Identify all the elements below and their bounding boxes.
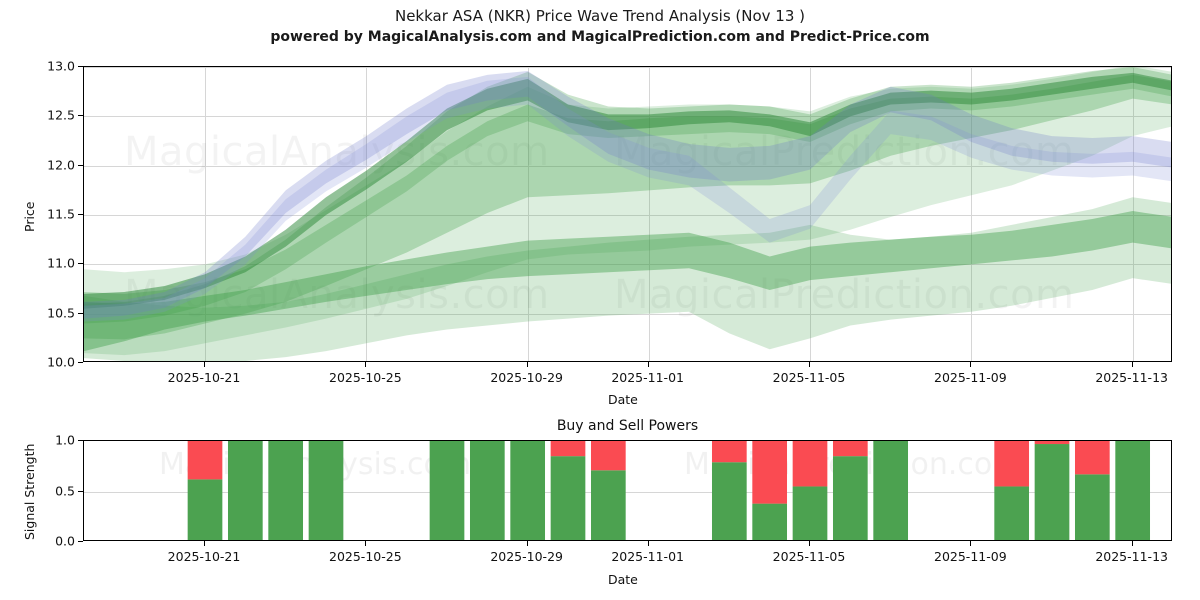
x-axis-tick-mark	[365, 541, 366, 546]
sell-power-bar	[752, 441, 787, 504]
buy-power-bar	[470, 441, 505, 541]
buy-power-bar	[228, 441, 263, 541]
x-axis-tick-label: 2025-10-21	[154, 370, 254, 385]
x-axis-tick-label: 2025-11-13	[1082, 549, 1182, 564]
x-axis-tick-label: 2025-11-13	[1082, 370, 1182, 385]
buy-power-bar	[752, 504, 787, 541]
y-axis-tick-label: 10.0	[29, 355, 75, 370]
sell-power-bar	[1035, 441, 1070, 444]
y-axis-tick-mark	[78, 165, 83, 166]
x-axis-tick-label: 2025-10-25	[315, 370, 415, 385]
y-axis-tick-mark	[78, 214, 83, 215]
y-axis-tick-mark	[78, 263, 83, 264]
buy-sell-title: Buy and Sell Powers	[83, 418, 1172, 434]
sell-power-bar	[591, 441, 626, 470]
sell-power-bar	[551, 441, 586, 456]
y-axis-tick-mark	[78, 491, 83, 492]
x-axis-tick-mark	[970, 541, 971, 546]
y-axis-tick-label: 11.0	[29, 256, 75, 271]
buy-power-bar	[510, 441, 545, 541]
y-axis-tick-mark	[78, 115, 83, 116]
buy-power-bar	[793, 486, 828, 541]
wave-bands	[84, 67, 1172, 362]
buy-power-bar	[873, 441, 908, 541]
x-axis-tick-mark	[1132, 362, 1133, 367]
buy-power-bar	[591, 470, 626, 541]
chart-title-block: Nekkar ASA (NKR) Price Wave Trend Analys…	[0, 6, 1200, 47]
y-axis-tick-mark	[78, 313, 83, 314]
buy-power-bar	[994, 486, 1029, 541]
y-axis-tick-label: 11.5	[29, 207, 75, 222]
x-axis-tick-label: 2025-11-09	[920, 549, 1020, 564]
y-axis-tick-label: 13.0	[29, 59, 75, 74]
x-axis-tick-mark	[204, 541, 205, 546]
x-axis-tick-label: 2025-11-01	[598, 370, 698, 385]
signal-bars	[84, 441, 1172, 541]
x-axis-tick-label: 2025-11-05	[759, 370, 859, 385]
buy-power-bar	[833, 456, 868, 541]
buy-power-bar	[188, 479, 223, 541]
x-axis-tick-mark	[809, 362, 810, 367]
y-axis-tick-mark	[78, 362, 83, 363]
buy-power-bar	[712, 462, 747, 541]
x-axis-tick-mark	[970, 362, 971, 367]
y-axis-tick-label: 1.0	[29, 433, 75, 448]
x-axis-tick-mark	[1132, 541, 1133, 546]
x-axis-tick-mark	[527, 362, 528, 367]
x-axis-tick-mark	[648, 541, 649, 546]
bottom-xaxis-label: Date	[608, 572, 638, 587]
x-axis-tick-label: 2025-11-09	[920, 370, 1020, 385]
buy-power-bar	[551, 456, 586, 541]
x-axis-tick-mark	[527, 541, 528, 546]
x-axis-tick-mark	[809, 541, 810, 546]
y-axis-tick-label: 10.5	[29, 305, 75, 320]
buy-power-bar	[1035, 444, 1070, 541]
y-axis-tick-label: 0.0	[29, 534, 75, 549]
x-axis-tick-label: 2025-10-21	[154, 549, 254, 564]
sell-power-bar	[994, 441, 1029, 486]
x-axis-tick-label: 2025-11-01	[598, 549, 698, 564]
x-axis-tick-label: 2025-10-25	[315, 549, 415, 564]
buy-power-bar	[430, 441, 465, 541]
buy-power-bar	[268, 441, 303, 541]
y-axis-tick-label: 12.0	[29, 157, 75, 172]
x-axis-tick-mark	[365, 362, 366, 367]
page-subtitle: powered by MagicalAnalysis.com and Magic…	[0, 27, 1200, 47]
sell-power-bar	[833, 441, 868, 456]
sell-power-bar	[712, 441, 747, 462]
y-axis-tick-mark	[78, 541, 83, 542]
buy-power-bar	[1115, 441, 1150, 541]
price-wave-chart-panel: MagicalAnalysis.com MagicalPrediction.co…	[83, 66, 1172, 362]
y-axis-tick-mark	[78, 66, 83, 67]
x-axis-tick-mark	[204, 362, 205, 367]
x-axis-tick-label: 2025-10-29	[477, 549, 577, 564]
y-axis-tick-label: 12.5	[29, 108, 75, 123]
buy-power-bar	[309, 441, 344, 541]
buy-sell-chart-panel: MagicalAnalysis.com MagicalPrediction.co…	[83, 440, 1172, 541]
x-axis-tick-label: 2025-10-29	[477, 370, 577, 385]
sell-power-bar	[793, 441, 828, 486]
sell-power-bar	[188, 441, 223, 479]
buy-power-bar	[1075, 474, 1110, 541]
x-axis-tick-label: 2025-11-05	[759, 549, 859, 564]
page-title: Nekkar ASA (NKR) Price Wave Trend Analys…	[0, 6, 1200, 27]
x-axis-tick-mark	[648, 362, 649, 367]
sell-power-bar	[1075, 441, 1110, 474]
y-axis-tick-mark	[78, 440, 83, 441]
y-axis-tick-label: 0.5	[29, 483, 75, 498]
top-xaxis-label: Date	[608, 392, 638, 407]
